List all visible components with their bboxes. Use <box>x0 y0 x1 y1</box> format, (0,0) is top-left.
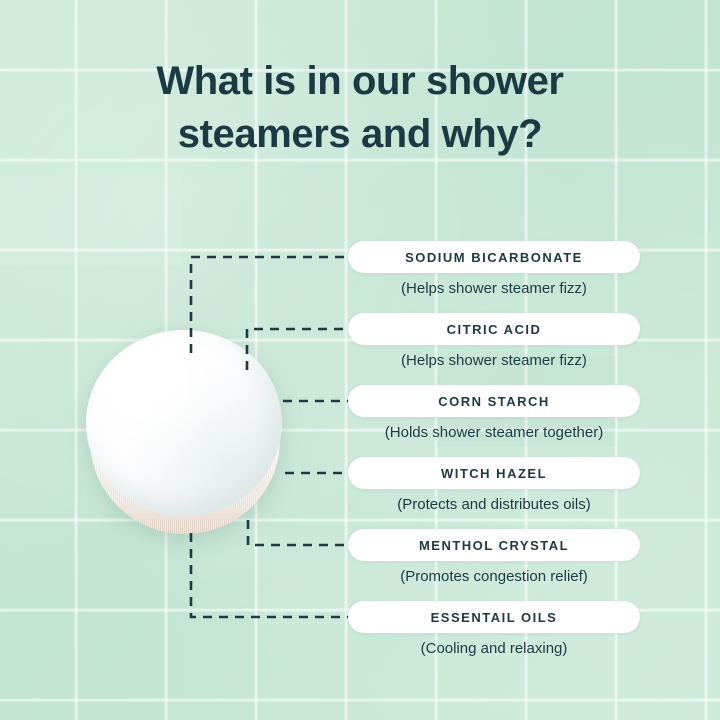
ingredient-caption: (Holds shower steamer together) <box>348 424 640 441</box>
ingredient-label: ESSENTAIL OILS <box>431 610 558 625</box>
ingredient-label: CITRIC ACID <box>447 322 542 337</box>
puck-top-surface <box>86 330 282 516</box>
ingredient-pill-corn-starch[interactable]: CORN STARCH <box>348 385 640 417</box>
ingredient-pill-menthol-crystal[interactable]: MENTHOL CRYSTAL <box>348 529 640 561</box>
page-title: What is in our shower steamers and why? <box>60 55 660 161</box>
page-title-line-1: What is in our shower <box>60 55 660 108</box>
ingredient-row: MENTHOL CRYSTAL (Promotes congestion rel… <box>348 529 640 585</box>
page-title-line-2: steamers and why? <box>60 108 660 161</box>
ingredient-pill-citric-acid[interactable]: CITRIC ACID <box>348 313 640 345</box>
ingredient-pill-witch-hazel[interactable]: WITCH HAZEL <box>348 457 640 489</box>
ingredient-caption: (Helps shower steamer fizz) <box>348 280 640 297</box>
ingredient-caption: (Promotes congestion relief) <box>348 568 640 585</box>
ingredient-row: WITCH HAZEL (Protects and distributes oi… <box>348 457 640 513</box>
infographic-canvas: What is in our shower steamers and why? … <box>0 0 720 720</box>
ingredient-caption: (Helps shower steamer fizz) <box>348 352 640 369</box>
ingredient-pill-essential-oils[interactable]: ESSENTAIL OILS <box>348 601 640 633</box>
ingredient-pill-sodium-bicarbonate[interactable]: SODIUM BICARBONATE <box>348 241 640 273</box>
ingredient-label: SODIUM BICARBONATE <box>405 250 583 265</box>
ingredient-caption: (Protects and distributes oils) <box>348 496 640 513</box>
ingredient-row: SODIUM BICARBONATE (Helps shower steamer… <box>348 241 640 297</box>
ingredient-label: WITCH HAZEL <box>441 466 547 481</box>
shower-steamer-puck-image <box>86 330 284 540</box>
ingredient-label: MENTHOL CRYSTAL <box>419 538 569 553</box>
ingredient-row: CITRIC ACID (Helps shower steamer fizz) <box>348 313 640 369</box>
ingredient-row: ESSENTAIL OILS (Cooling and relaxing) <box>348 601 640 657</box>
ingredient-row: CORN STARCH (Holds shower steamer togeth… <box>348 385 640 441</box>
ingredient-label: CORN STARCH <box>438 394 550 409</box>
ingredient-caption: (Cooling and relaxing) <box>348 640 640 657</box>
